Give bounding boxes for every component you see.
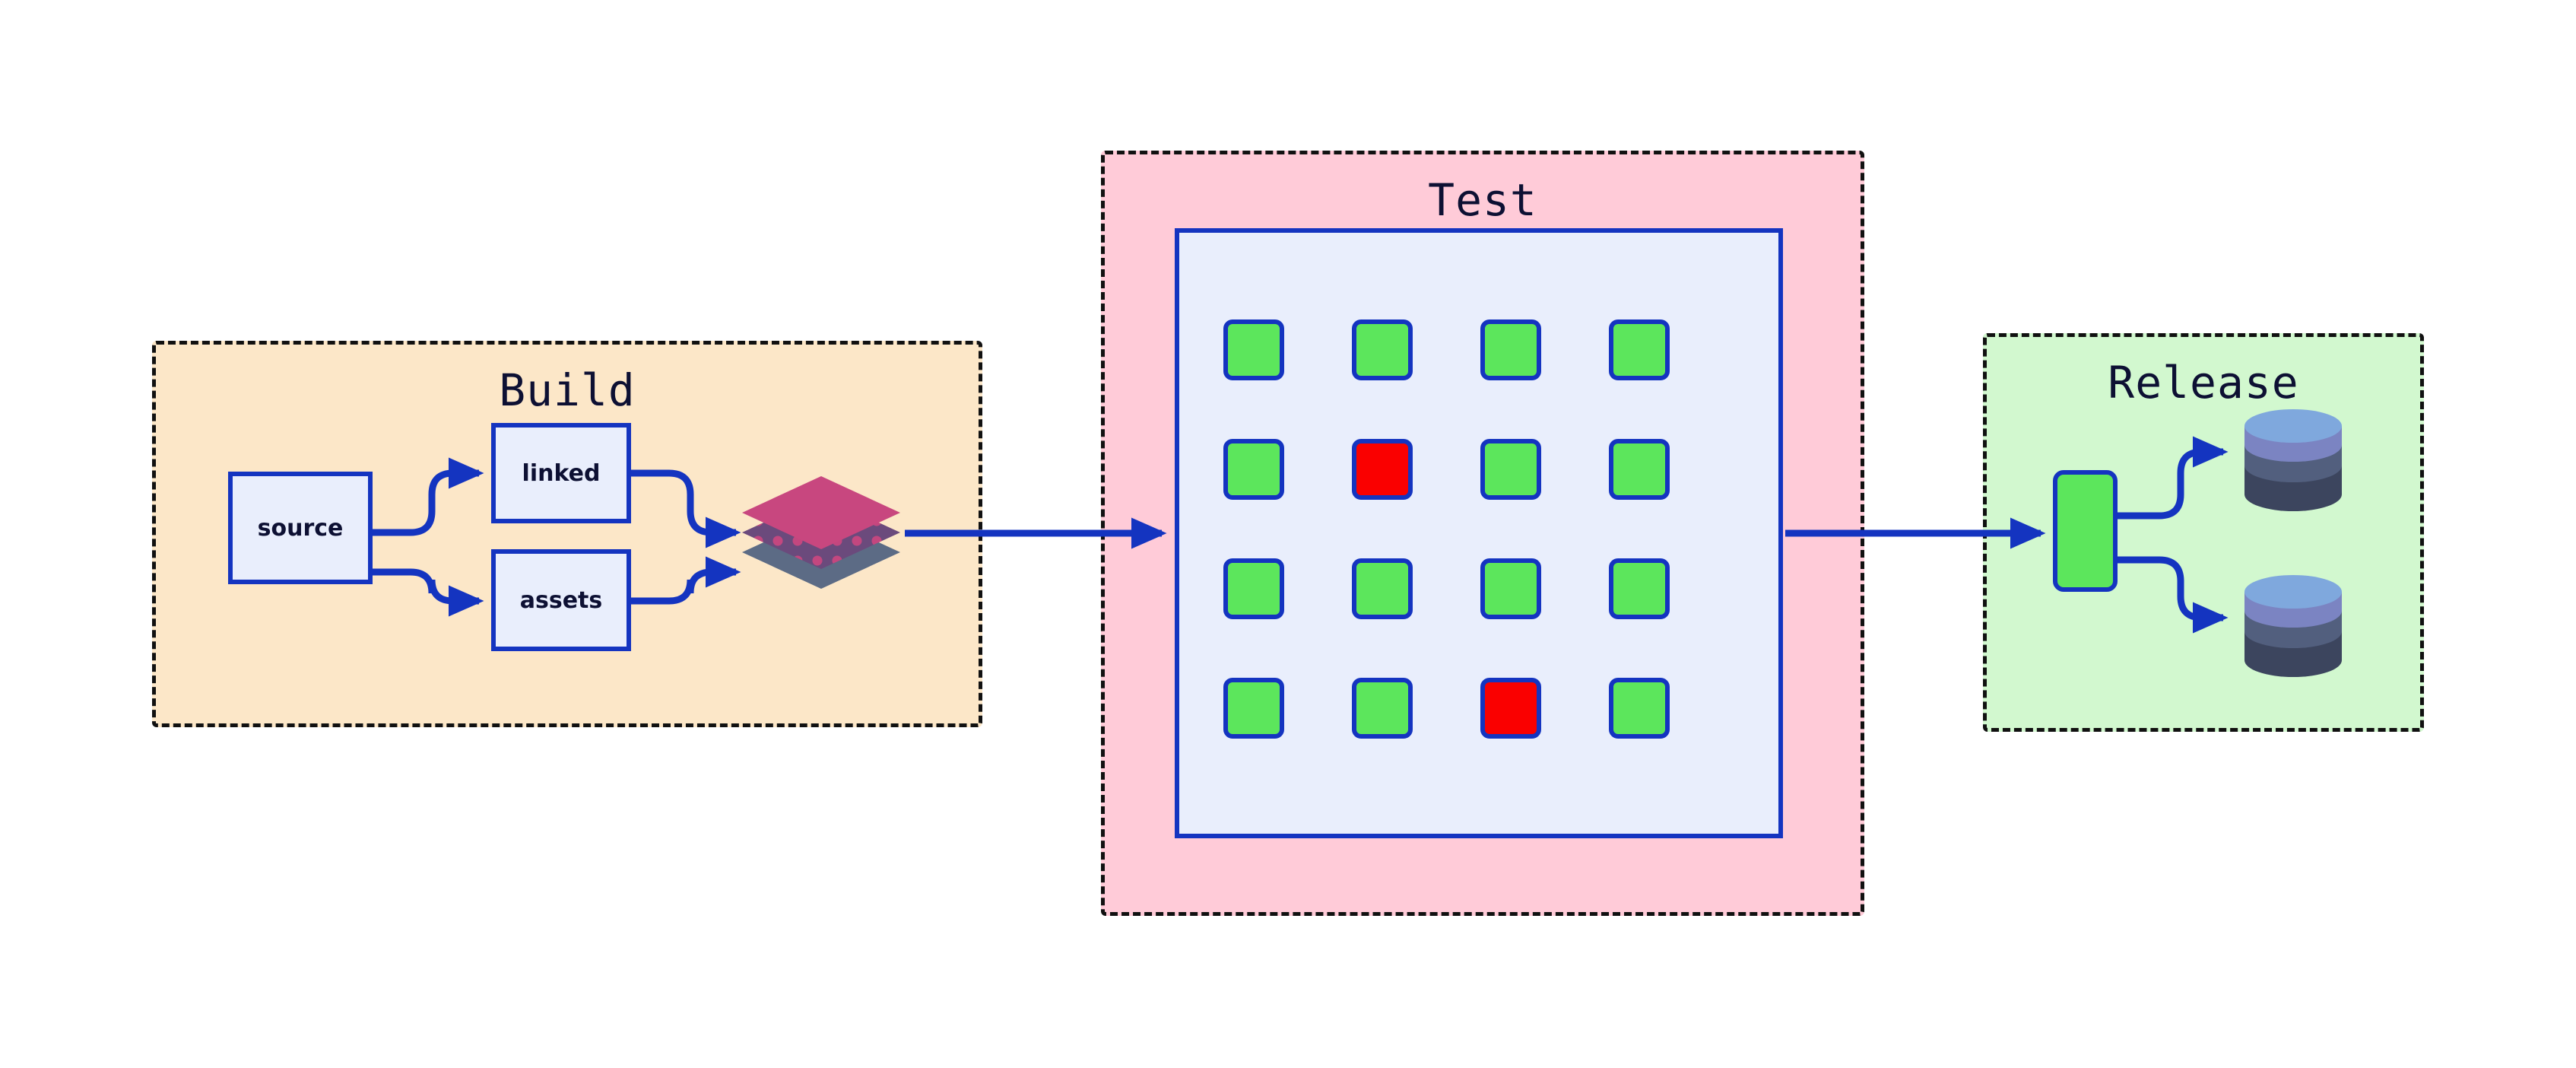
test-cell-pass-r4c1[interactable]	[1223, 678, 1284, 739]
node-linked[interactable]: linked	[491, 423, 631, 523]
node-linked-label: linked	[522, 460, 601, 487]
test-cell-fail-r4c3[interactable]	[1480, 678, 1541, 739]
stage-release-title: Release	[1987, 357, 2420, 408]
test-cell-pass-r2c1[interactable]	[1223, 439, 1284, 500]
test-cell-pass-r3c2[interactable]	[1352, 558, 1413, 619]
diagram-canvas: Build source linked assets Test Release	[0, 0, 2576, 1068]
release-artifact-box[interactable]	[2053, 470, 2118, 592]
test-cell-pass-r3c3[interactable]	[1480, 558, 1541, 619]
test-cell-pass-r3c4[interactable]	[1609, 558, 1670, 619]
test-cell-pass-r1c3[interactable]	[1480, 319, 1541, 380]
test-cell-pass-r2c3[interactable]	[1480, 439, 1541, 500]
stage-build-title: Build	[156, 364, 979, 416]
test-cell-pass-r2c4[interactable]	[1609, 439, 1670, 500]
node-assets-label: assets	[520, 587, 603, 614]
test-cell-pass-r4c2[interactable]	[1352, 678, 1413, 739]
test-cell-pass-r1c2[interactable]	[1352, 319, 1413, 380]
node-source-label: source	[258, 515, 344, 542]
test-cell-fail-r2c2[interactable]	[1352, 439, 1413, 500]
stage-test-title: Test	[1105, 174, 1861, 226]
test-cell-pass-r1c4[interactable]	[1609, 319, 1670, 380]
test-results-grid	[1223, 319, 1670, 755]
test-cell-pass-r1c1[interactable]	[1223, 319, 1284, 380]
node-assets[interactable]: assets	[491, 549, 631, 651]
stage-release: Release	[1983, 333, 2424, 732]
test-cell-pass-r4c4[interactable]	[1609, 678, 1670, 739]
test-cell-pass-r3c1[interactable]	[1223, 558, 1284, 619]
node-source[interactable]: source	[228, 472, 373, 584]
test-results-panel	[1175, 228, 1783, 838]
